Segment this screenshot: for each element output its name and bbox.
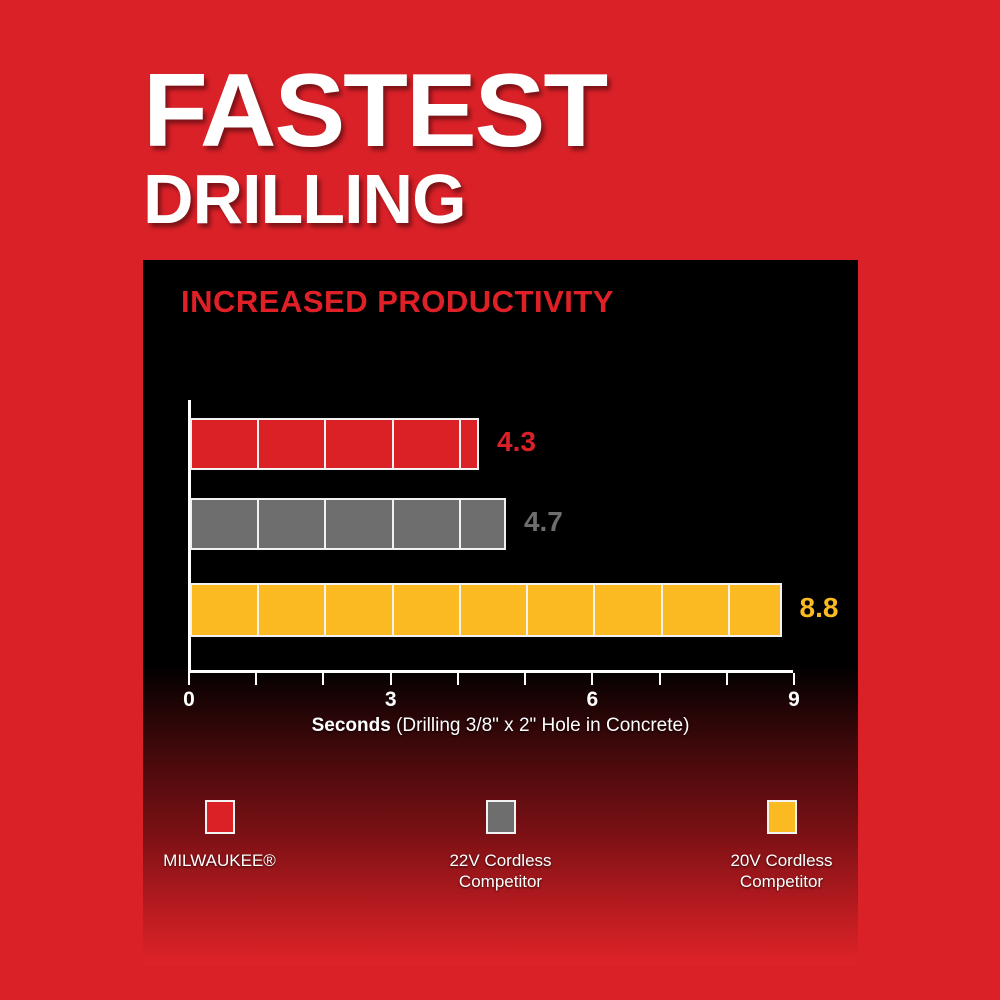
legend-label: MILWAUKEE® [163, 850, 276, 871]
x-axis-caption-detail: (Drilling 3/8" x 2" Hole in Concrete) [396, 715, 689, 736]
bar-segment [259, 500, 326, 548]
bar [190, 583, 782, 637]
bar-segment [595, 585, 662, 635]
panel-content: INCREASED PRODUCTIVITY 0369 4.34.78.8 Se… [143, 260, 858, 965]
bar-segment [528, 585, 595, 635]
legend-swatch-icon [767, 800, 797, 834]
bar-segment [259, 585, 326, 635]
promo-graphic: FASTEST DRILLING INCREASED PRODUCTIVITY … [0, 0, 1000, 1000]
chart-panel: INCREASED PRODUCTIVITY 0369 4.34.78.8 Se… [143, 260, 858, 965]
bar-value-label: 8.8 [800, 592, 839, 624]
bar-segment [259, 420, 326, 468]
bar-segment [461, 585, 528, 635]
legend-item: 20V CordlessCompetitor [705, 800, 858, 893]
x-axis-tick-label: 9 [788, 688, 800, 712]
bar-segment [326, 500, 393, 548]
bar-segment [394, 500, 461, 548]
legend-item: MILWAUKEE® [143, 800, 296, 893]
x-axis-tick [322, 673, 324, 685]
x-axis-tick [793, 673, 795, 685]
bar-segment [326, 420, 393, 468]
bar-segment [394, 585, 461, 635]
x-axis-tick [188, 673, 190, 685]
x-axis-tick [255, 673, 257, 685]
bar-value-label: 4.7 [524, 506, 563, 538]
legend-label: 20V CordlessCompetitor [730, 850, 832, 893]
headline-secondary: DRILLING [143, 164, 863, 235]
legend-label: 22V CordlessCompetitor [449, 850, 551, 893]
x-axis-line [188, 670, 793, 673]
x-axis-tick-label: 0 [183, 688, 195, 712]
bar-segment-partial [730, 585, 780, 635]
bar-segment [192, 500, 259, 548]
legend-swatch-icon [205, 800, 235, 834]
bar-value-label: 4.3 [497, 426, 536, 458]
x-axis-tick-label: 6 [586, 688, 598, 712]
headline: FASTEST DRILLING [143, 62, 863, 235]
chart-title: INCREASED PRODUCTIVITY [181, 284, 614, 320]
bar-segment-partial [461, 420, 477, 468]
bar [190, 498, 506, 550]
bar-segment [326, 585, 393, 635]
x-axis-tick [390, 673, 392, 685]
bar [190, 418, 479, 470]
x-axis-tick [591, 673, 593, 685]
x-axis-tick [524, 673, 526, 685]
x-axis-caption: Seconds (Drilling 3/8" x 2" Hole in Conc… [143, 715, 858, 737]
x-axis-tick-label: 3 [385, 688, 397, 712]
bar-segment [192, 585, 259, 635]
legend-item: 22V CordlessCompetitor [424, 800, 577, 893]
x-axis-tick [726, 673, 728, 685]
x-axis-tick [457, 673, 459, 685]
headline-primary: FASTEST [143, 62, 877, 162]
bar-chart-plot: 0369 4.34.78.8 [188, 400, 828, 675]
bar-segment [192, 420, 259, 468]
legend-swatch-icon [486, 800, 516, 834]
x-axis-caption-bold: Seconds [312, 715, 391, 736]
bar-segment [663, 585, 730, 635]
x-axis-tick [659, 673, 661, 685]
bar-segment [394, 420, 461, 468]
bar-segment-partial [461, 500, 504, 548]
chart-legend: MILWAUKEE®22V CordlessCompetitor20V Cord… [143, 800, 858, 893]
